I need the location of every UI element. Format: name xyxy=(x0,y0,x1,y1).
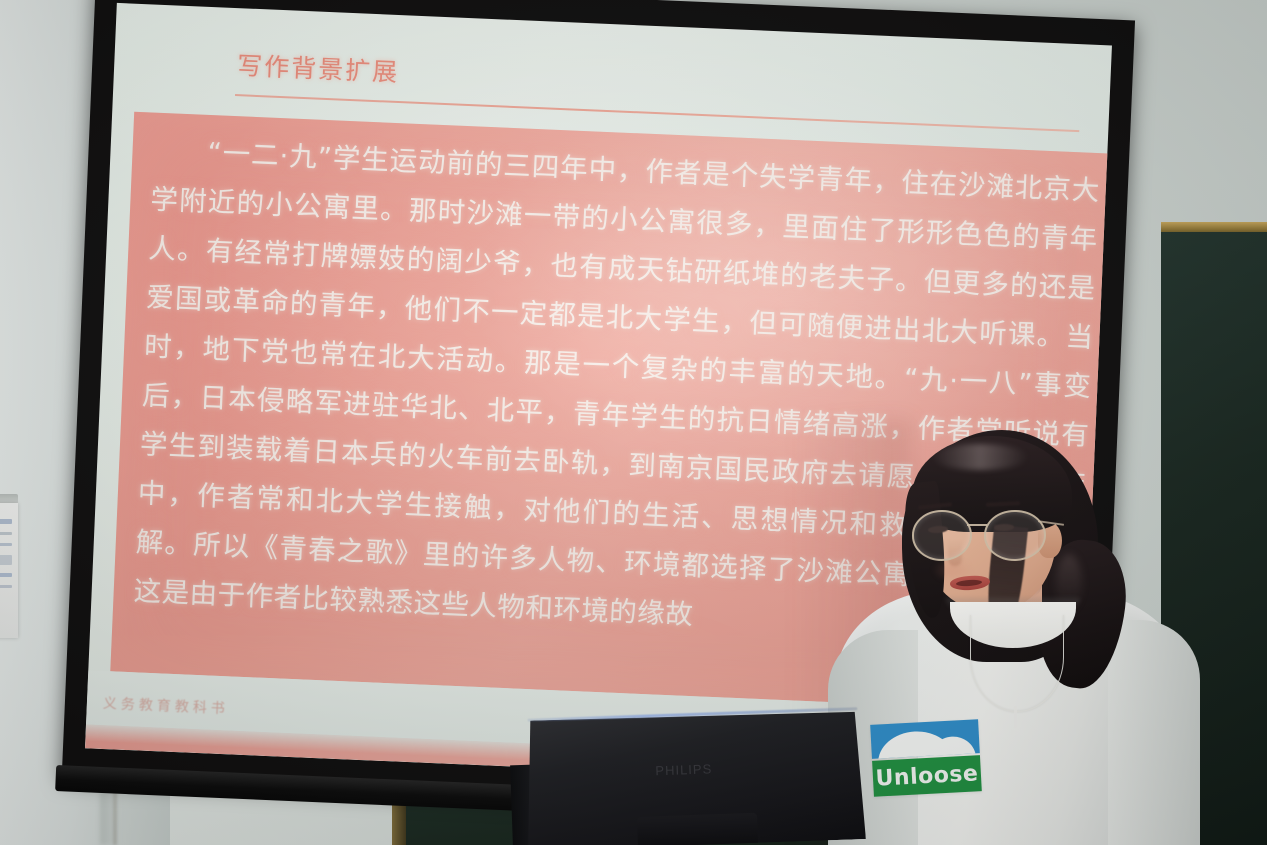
logo-sky-band xyxy=(870,719,980,759)
logo-brand-text: Unloose xyxy=(872,755,982,797)
presenter-necklace-pendant xyxy=(1014,706,1017,728)
presenter-hair-highlight xyxy=(932,444,1028,470)
wall-poster xyxy=(0,503,18,638)
monitor-stand xyxy=(637,813,758,845)
presenter-glasses xyxy=(912,508,1070,560)
glasses-lens-right xyxy=(984,510,1046,561)
glasses-bridge xyxy=(967,524,987,526)
sweatshirt-logo: Unloose xyxy=(870,719,982,797)
glasses-lens-left xyxy=(912,510,972,561)
presenter-shoulder-right xyxy=(1108,620,1200,845)
monitor-brand-logo: PHILIPS xyxy=(655,761,712,778)
desk-monitor: PHILIPS xyxy=(513,701,870,845)
presenter: Unloose xyxy=(820,430,1200,845)
slide-title: 写作背景扩展 xyxy=(237,46,400,89)
screenshot-stage: 写作背景扩展 “一二·九”学生运动前的三四年中，作者是个失学青年，住在沙滩北京大… xyxy=(0,0,1267,845)
